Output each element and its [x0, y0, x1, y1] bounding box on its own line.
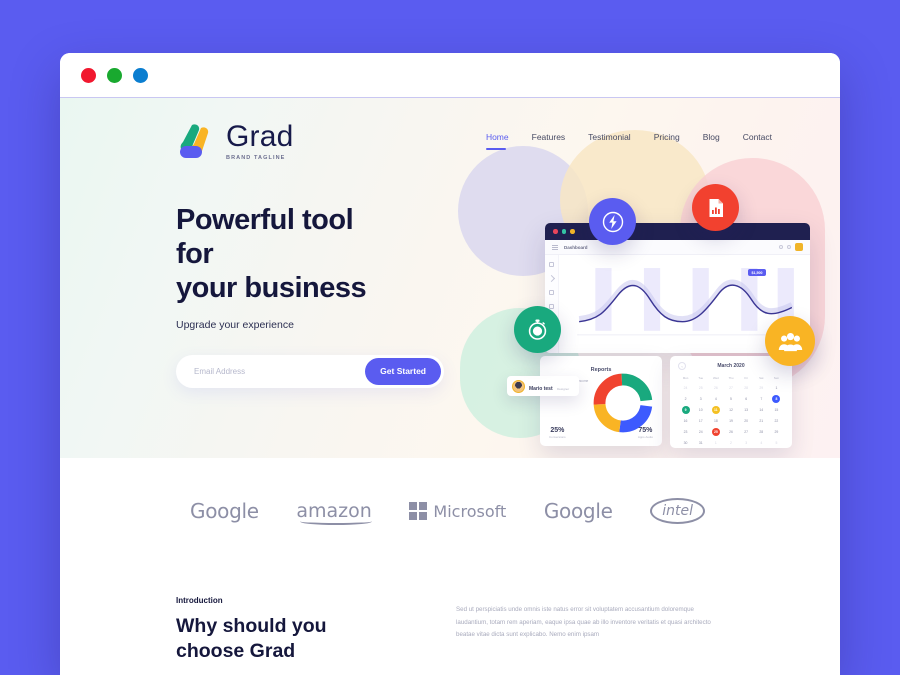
mockup-minimize-dot	[562, 229, 567, 234]
logo-microsoft-text: Microsoft	[433, 502, 506, 521]
calendar-day-cell[interactable]: 21	[754, 417, 769, 425]
calendar-header: ‹ March 2020	[678, 363, 784, 369]
dashboard-titlebar	[545, 223, 810, 240]
calendar-day-cell[interactable]: 31	[693, 439, 708, 447]
calendar-card: ‹ March 2020 MonTueWedThuFriSatSun 24252…	[670, 356, 792, 448]
calendar-day-cell[interactable]: 30	[678, 439, 693, 447]
introduction-heading: Why should you choose Grad	[176, 614, 396, 664]
chart-tooltip: $1,500	[748, 269, 766, 276]
donut-stats: 25% Conversions 75% Apps Audio	[540, 427, 662, 439]
donut-stat-right: 75% Apps Audio	[638, 427, 653, 439]
page-viewport: Grad BRAND TAGLINE Home Features Testimo…	[60, 98, 840, 675]
calendar-day-cell[interactable]: 29	[769, 428, 784, 436]
calendar-day-cell[interactable]: 25	[693, 384, 708, 392]
logo-google-2: Google	[544, 499, 613, 523]
introduction-eyebrow: Introduction	[176, 596, 396, 605]
team-glyph	[777, 328, 804, 355]
email-input[interactable]	[194, 367, 365, 376]
calendar-day-cell[interactable]: 12	[723, 406, 738, 414]
calendar-day-cell[interactable]: 22	[769, 417, 784, 425]
calendar-day-cell[interactable]: 4	[708, 395, 723, 403]
calendar-day-cell[interactable]: 27	[723, 384, 738, 392]
bolt-glyph	[601, 210, 625, 234]
calendar-day-cell[interactable]: 29	[754, 384, 769, 392]
calendar-week-row: 9101112131415	[678, 406, 784, 414]
nav-item-contact[interactable]: Contact	[743, 132, 772, 150]
nav-item-home[interactable]: Home	[486, 132, 509, 150]
calendar-day-cell[interactable]: 2	[723, 439, 738, 447]
calendar-day-cell[interactable]: 26	[723, 428, 738, 436]
brand-logo[interactable]: Grad BRAND TAGLINE	[176, 120, 294, 161]
logo-amazon: amazon	[296, 500, 371, 522]
site-header: Grad BRAND TAGLINE Home Features Testimo…	[60, 98, 840, 161]
user-card: Mario test Designer	[507, 376, 579, 396]
donut-stat-left: 25% Conversions	[549, 427, 566, 439]
introduction-left: Introduction Why should you choose Grad	[176, 596, 396, 664]
calendar-day-cell[interactable]: 18	[708, 417, 723, 425]
donut-stat-left-value: 25%	[549, 427, 566, 434]
sidebar-item-settings-icon[interactable]	[549, 304, 554, 309]
donut-stat-left-label: Conversions	[549, 435, 566, 439]
calendar-month-label: March 2020	[717, 363, 744, 369]
timer-icon[interactable]	[514, 306, 561, 353]
brand-name: Grad	[226, 122, 294, 152]
calendar-day-cell[interactable]: 7	[754, 395, 769, 403]
sidebar-item-chart-icon[interactable]	[549, 290, 554, 295]
calendar-week-row: 23242526272829	[678, 428, 784, 436]
browser-window: Grad BRAND TAGLINE Home Features Testimo…	[60, 53, 840, 675]
bell-icon[interactable]	[787, 245, 791, 249]
nav-item-testimonial[interactable]: Testimonial	[588, 132, 631, 150]
signup-form: Get Started	[176, 355, 444, 388]
bolt-icon[interactable]	[589, 198, 636, 245]
window-maximize-button[interactable]	[133, 68, 148, 83]
calendar-day-cell[interactable]: 10	[693, 406, 708, 414]
user-card-text: Mario test Designer	[529, 377, 569, 395]
calendar-weekday: Sun	[769, 376, 784, 380]
calendar-week-row: 303112345	[678, 439, 784, 447]
calendar-week-row: 2425262728291	[678, 384, 784, 392]
calendar-day-cell[interactable]: 4	[754, 439, 769, 447]
introduction-section: Introduction Why should you choose Grad …	[60, 524, 840, 664]
calendar-day-cell[interactable]: 19	[723, 417, 738, 425]
calendar-weekday: Thu	[723, 376, 738, 380]
calendar-day-cell[interactable]: 24	[693, 428, 708, 436]
calendar-week-row: 16171819202122	[678, 417, 784, 425]
window-close-button[interactable]	[81, 68, 96, 83]
calendar-day-cell[interactable]: 8	[769, 395, 784, 403]
nav-item-blog[interactable]: Blog	[703, 132, 720, 150]
get-started-button[interactable]: Get Started	[365, 358, 441, 385]
browser-titlebar	[60, 53, 840, 98]
donut-stat-right-value: 75%	[638, 427, 653, 434]
chevron-left-icon[interactable]: ‹	[678, 362, 686, 370]
calendar-day-cell[interactable]: 24	[678, 384, 693, 392]
calendar-weekday: Wed	[708, 376, 723, 380]
calendar-day-cell[interactable]: 2	[678, 395, 693, 403]
calendar-day-cell[interactable]: 25	[708, 428, 723, 436]
calendar-weekday-row: MonTueWedThuFriSatSun	[678, 376, 784, 380]
calendar-day-cell[interactable]: 23	[678, 428, 693, 436]
calendar-week-row: 2345678	[678, 395, 784, 403]
mockup-close-dot	[553, 229, 558, 234]
report-glyph	[704, 196, 728, 220]
dashboard-illustration: Dashboard	[485, 124, 840, 454]
grad-logo-icon	[176, 121, 218, 161]
calendar-day-cell[interactable]: 1	[769, 384, 784, 392]
logo-intel: intel	[650, 498, 705, 524]
hero-subtitle: Upgrade your experience	[176, 319, 390, 331]
dashboard-topbar: Dashboard	[545, 240, 810, 255]
microsoft-tiles-icon	[409, 502, 427, 520]
calendar-day-cell[interactable]: 6	[739, 395, 754, 403]
calendar-weekday: Sat	[754, 376, 769, 380]
calendar-weekday: Fri	[739, 376, 754, 380]
nav-item-features[interactable]: Features	[532, 132, 566, 150]
report-icon[interactable]	[692, 184, 739, 231]
calendar-day-cell[interactable]: 13	[739, 406, 754, 414]
calendar-day-cell[interactable]: 26	[708, 384, 723, 392]
logo-intel-text: intel	[650, 498, 705, 524]
calendar-day-cell[interactable]: 17	[693, 417, 708, 425]
calendar-day-cell[interactable]: 16	[678, 417, 693, 425]
calendar-day-cell[interactable]: 28	[754, 428, 769, 436]
brand-tagline: BRAND TAGLINE	[226, 155, 294, 161]
donut-chart-svg	[592, 372, 654, 434]
logo-google: Google	[190, 499, 259, 523]
mockup-maximize-dot	[570, 229, 575, 234]
calendar-day-cell[interactable]: 27	[739, 428, 754, 436]
calendar-weekday: Mon	[678, 376, 693, 380]
user-role: Designer	[557, 387, 569, 391]
calendar-day-cell[interactable]: 11	[708, 406, 723, 414]
client-logos-strip: Google amazon Microsoft Google intel	[60, 458, 840, 524]
sidebar-item-home-icon[interactable]	[548, 275, 555, 282]
calendar-day-cell[interactable]: 9	[678, 406, 693, 414]
search-icon[interactable]	[779, 245, 783, 249]
dashboard-topbar-actions	[779, 243, 803, 251]
calendar-day-cell[interactable]: 14	[754, 406, 769, 414]
hero-copy: Powerful tool for your business Upgrade …	[60, 161, 390, 388]
calendar-day-cell[interactable]: 20	[739, 417, 754, 425]
avatar[interactable]	[795, 243, 803, 251]
calendar-day-cell[interactable]: 5	[723, 395, 738, 403]
brand-text: Grad BRAND TAGLINE	[226, 120, 294, 161]
amazon-smile-icon	[300, 518, 371, 525]
user-name: Mario test	[529, 386, 553, 392]
calendar-weekday: Tue	[693, 376, 708, 380]
sidebar-item-grid-icon[interactable]	[549, 262, 554, 267]
reports-card: Reports Net Income	[540, 356, 662, 446]
calendar-day-cell[interactable]: 28	[739, 384, 754, 392]
calendar-day-cell[interactable]: 5	[769, 439, 784, 447]
introduction-paragraph: Sed ut perspiciatis unde omnis iste natu…	[456, 604, 716, 664]
logo-microsoft: Microsoft	[409, 502, 506, 521]
timer-glyph	[525, 317, 550, 342]
window-minimize-button[interactable]	[107, 68, 122, 83]
nav-item-pricing[interactable]: Pricing	[654, 132, 680, 150]
dashboard-page-title: Dashboard	[564, 245, 588, 250]
calendar-day-cell[interactable]: 3	[693, 395, 708, 403]
calendar-day-cell[interactable]: 3	[739, 439, 754, 447]
calendar-grid: 2425262728291234567891011121314151617181…	[678, 384, 784, 447]
donut-stat-right-label: Apps Audio	[638, 435, 653, 439]
hero-title: Powerful tool for your business	[176, 203, 390, 306]
hero-section: Grad BRAND TAGLINE Home Features Testimo…	[60, 98, 840, 458]
calendar-day-cell[interactable]: 15	[769, 406, 784, 414]
hamburger-icon[interactable]	[552, 245, 558, 250]
main-navigation: Home Features Testimonial Pricing Blog C…	[486, 120, 782, 150]
team-icon[interactable]	[765, 316, 815, 366]
avatar	[512, 380, 525, 393]
calendar-day-cell[interactable]: 1	[708, 439, 723, 447]
